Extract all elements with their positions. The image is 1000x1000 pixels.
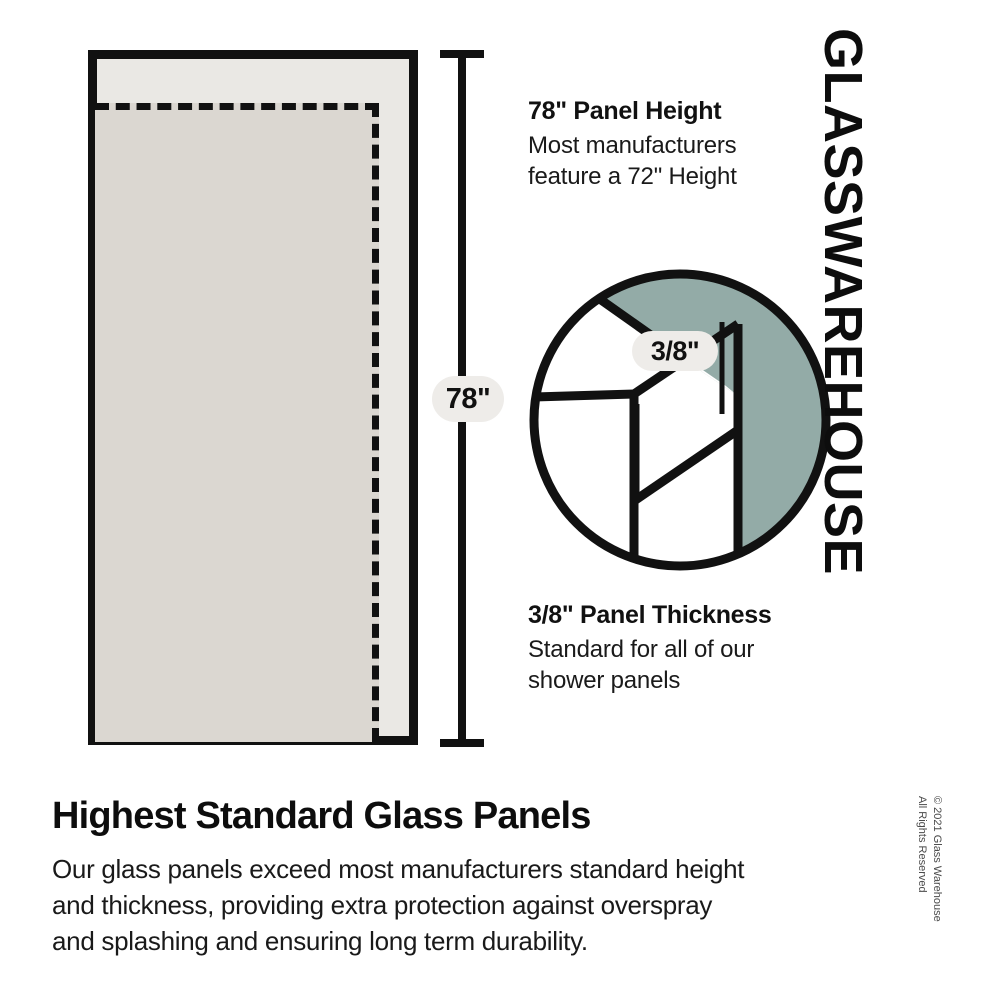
height-dimension-label: 78": [432, 376, 504, 422]
callout-panel-height: 78" Panel Height Most manufacturers feat…: [528, 97, 828, 192]
footer-text-block: Highest Standard Glass Panels Our glass …: [52, 796, 872, 959]
footer-body-line-2: and thickness, providing extra protectio…: [52, 888, 872, 924]
callout-panel-thickness-title: 3/8" Panel Thickness: [528, 601, 848, 630]
footer-heading: Highest Standard Glass Panels: [52, 796, 872, 838]
copyright-notice: © 2021 Glass Warehouse All Rights Reserv…: [904, 796, 944, 976]
copyright-line-2: All Rights Reserved: [915, 796, 930, 976]
brand-wordmark: GLASSWAREHOUSE: [805, 28, 881, 588]
callout-panel-height-line-2: feature a 72" Height: [528, 161, 828, 192]
panel-thickness-detail-circle: [524, 264, 836, 576]
callout-panel-height-line-1: Most manufacturers: [528, 130, 828, 161]
height-dimension-cap-top: [440, 50, 484, 58]
footer-body-line-1: Our glass panels exceed most manufacture…: [52, 852, 872, 888]
height-dimension-cap-bottom: [440, 739, 484, 747]
callout-panel-thickness: 3/8" Panel Thickness Standard for all of…: [528, 601, 848, 696]
footer-body-line-3: and splashing and ensuring long term dur…: [52, 924, 872, 960]
infographic-canvas: 78" 78" Panel Height Most manufacturers …: [0, 0, 1000, 1000]
callout-panel-thickness-line-1: Standard for all of our: [528, 634, 848, 665]
glass-panel-dashed-inner-outline: [95, 103, 379, 742]
callout-panel-height-title: 78" Panel Height: [528, 97, 828, 126]
panel-thickness-detail-label: 3/8": [632, 331, 718, 371]
copyright-line-1: © 2021 Glass Warehouse: [929, 796, 944, 976]
detail-panel-thickness-face: [692, 365, 738, 574]
callout-panel-thickness-line-2: shower panels: [528, 665, 848, 696]
